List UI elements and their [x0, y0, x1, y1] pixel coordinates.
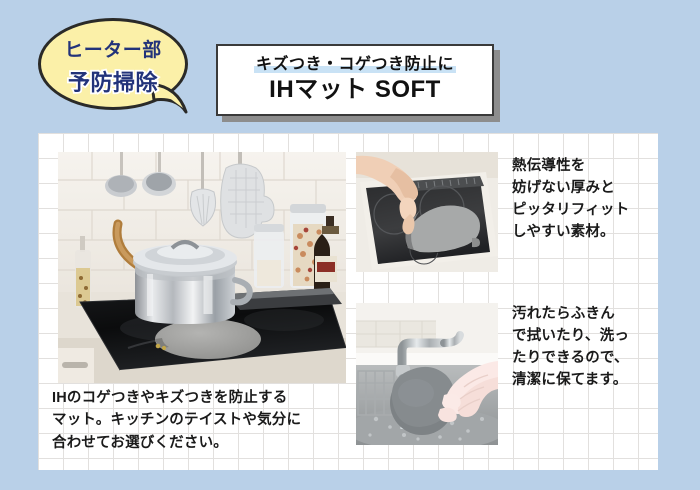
advertisement-page: ヒーター部 予防掃除 キズつき・コゲつき防止に IHマット SOFT — [0, 0, 700, 490]
caption-clean-line-2: で拭いたり、洗っ — [512, 325, 662, 347]
photo-lifting-mat — [356, 152, 498, 272]
caption-clean-line-3: たりできるので、 — [512, 347, 662, 369]
badge-line-2: 予防掃除 — [38, 65, 188, 97]
title-card: キズつき・コゲつき防止に IHマット SOFT — [216, 44, 494, 116]
caption-main-line-3: 合わせてお選びください。 — [52, 432, 352, 454]
caption-heat-line-1: 熱伝導性を — [512, 155, 662, 177]
caption-main-line-2: マット。キッチンのテイストや気分に — [52, 409, 352, 431]
caption-heat-conductivity: 熱伝導性を 妨げない厚みと ピッタリフィット しやすい素材。 — [512, 155, 662, 243]
caption-clean-line-1: 汚れたらふきん — [512, 303, 662, 325]
caption-heat-line-4: しやすい素材。 — [512, 221, 662, 243]
caption-heat-line-3: ピッタリフィット — [512, 199, 662, 221]
badge-line-1: ヒーター部 — [38, 35, 188, 62]
caption-heat-line-2: 妨げない厚みと — [512, 177, 662, 199]
caption-clean-line-4: 清潔に保てます。 — [512, 369, 662, 391]
heater-badge: ヒーター部 予防掃除 — [38, 18, 188, 113]
photo-cooktop-with-mat — [58, 152, 346, 383]
caption-main-line-1: IHのコゲつきやキズつきを防止する — [52, 387, 352, 409]
photo-washing-mat — [356, 303, 498, 445]
caption-main: IHのコゲつきやキズつきを防止する マット。キッチンのテイストや気分に 合わせて… — [52, 387, 352, 454]
product-title: IHマット SOFT — [269, 77, 441, 103]
caption-easy-clean: 汚れたらふきん で拭いたり、洗っ たりできるので、 清潔に保てます。 — [512, 303, 662, 391]
title-subtitle: キズつき・コゲつき防止に — [254, 57, 456, 73]
title-subtitle-wrap: キズつき・コゲつき防止に — [254, 57, 456, 73]
